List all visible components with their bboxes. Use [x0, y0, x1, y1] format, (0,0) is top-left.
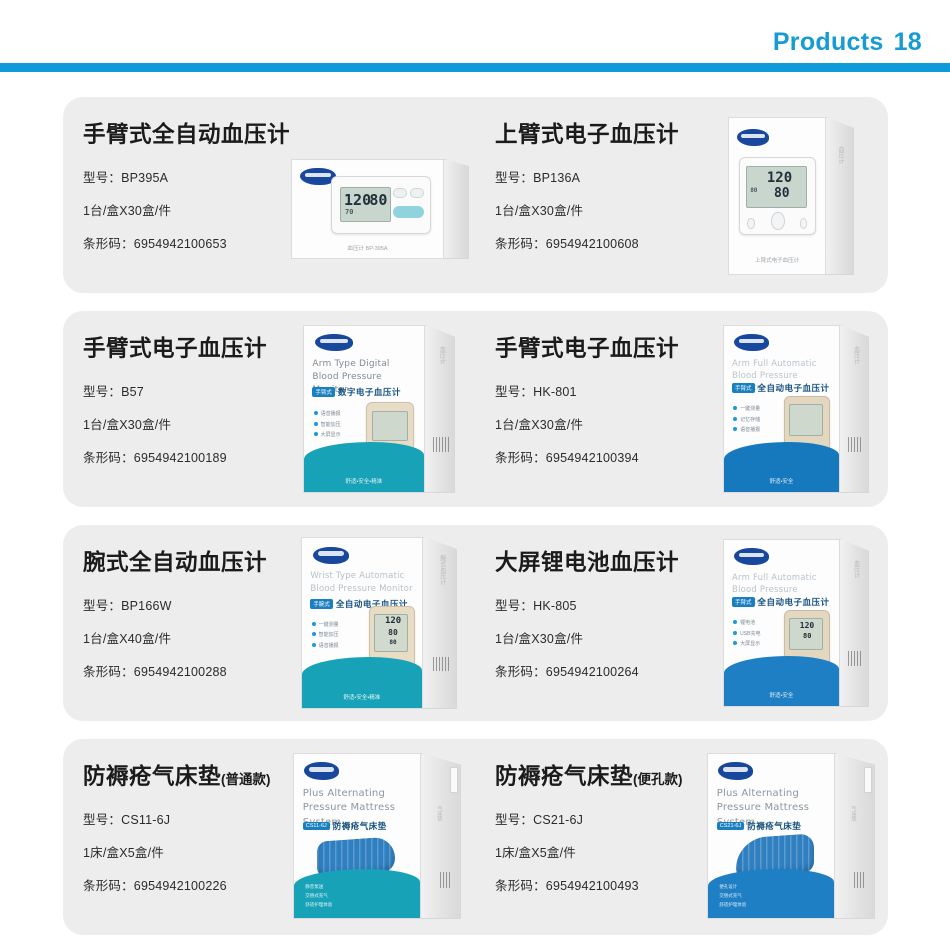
product-info: 防褥疮气床垫(普通款) 型号：CS11-6J 1床/盒X5盒/件 条形码：695… — [63, 739, 303, 894]
product-barcode: 条形码：6954942100264 — [495, 661, 715, 680]
product-packing: 1台/盒X30盒/件 — [83, 414, 303, 433]
product-info: 大屏锂电池血压计 型号：HK-805 1台/盒X30盒/件 条形码：695494… — [475, 525, 715, 680]
product-info: 上臂式电子血压计 型号：BP136A 1台/盒X30盒/件 条形码：695494… — [475, 97, 715, 252]
page-number: 18 — [894, 28, 922, 56]
catalog-page: Products18 手臂式全自动血压计 型号：BP395A 1台/盒X30盒/… — [0, 0, 950, 950]
product-model: 型号：HK-805 — [495, 595, 715, 614]
product-packing: 1台/盒X30盒/件 — [495, 414, 715, 433]
product-info: 腕式全自动血压计 型号：BP166W 1台/盒X40盒/件 条形码：695494… — [63, 525, 303, 680]
product-cell[interactable]: 腕式全自动血压计 型号：BP166W 1台/盒X40盒/件 条形码：695494… — [63, 525, 475, 721]
product-model: 型号：HK-801 — [495, 381, 715, 400]
product-packing: 1台/盒X40盒/件 — [83, 628, 303, 647]
product-title-main: 上臂式电子血压计 — [495, 122, 679, 147]
product-box-image: Wrist Type Automatic Blood Pressure Moni… — [301, 537, 457, 709]
page-title: Products18 — [773, 28, 922, 57]
product-model: 型号：BP136A — [495, 167, 715, 186]
product-box-image: Arm Type Digital Blood Pressure Monitor … — [303, 325, 455, 493]
product-title-main: 手臂式电子血压计 — [83, 336, 267, 361]
product-card-row: 防褥疮气床垫(普通款) 型号：CS11-6J 1床/盒X5盒/件 条形码：695… — [63, 739, 888, 935]
product-info: 手臂式电子血压计 型号：B57 1台/盒X30盒/件 条形码：695494210… — [63, 311, 303, 466]
product-card-row: 手臂式全自动血压计 型号：BP395A 1台/盒X30盒/件 条形码：69549… — [63, 97, 888, 293]
product-title: 大屏锂电池血压计 — [495, 551, 715, 576]
product-title-main: 手臂式电子血压计 — [495, 336, 679, 361]
product-packing: 1床/盒X5盒/件 — [83, 842, 303, 861]
product-title: 腕式全自动血压计 — [83, 551, 303, 576]
product-card-row: 手臂式电子血压计 型号：B57 1台/盒X30盒/件 条形码：695494210… — [63, 311, 888, 507]
product-title-main: 防褥疮气床垫 — [495, 764, 633, 789]
product-packing: 1台/盒X30盒/件 — [495, 628, 715, 647]
product-model: 型号：CS21-6J — [495, 809, 715, 828]
product-model: 型号：BP166W — [83, 595, 303, 614]
product-box-image: 120 80 70 血压计 BP-395A — [291, 159, 469, 259]
product-title-suffix: (普通款) — [221, 772, 271, 787]
product-cell[interactable]: 上臂式电子血压计 型号：BP136A 1台/盒X30盒/件 条形码：695494… — [475, 97, 887, 293]
product-barcode: 条形码：6954942100394 — [495, 447, 715, 466]
product-title-main: 手臂式全自动血压计 — [83, 122, 290, 147]
page-header: Products18 — [0, 0, 950, 90]
product-title: 手臂式电子血压计 — [495, 337, 715, 362]
product-barcode: 条形码：6954942100653 — [83, 233, 303, 252]
product-card-row: 腕式全自动血压计 型号：BP166W 1台/盒X40盒/件 条形码：695494… — [63, 525, 888, 721]
product-card-list: 手臂式全自动血压计 型号：BP395A 1台/盒X30盒/件 条形码：69549… — [63, 97, 888, 935]
product-box-image: Plus Alternating Pressure Mattress Syste… — [293, 753, 461, 919]
product-barcode: 条形码：6954942100288 — [83, 661, 303, 680]
product-barcode: 条形码：6954942100608 — [495, 233, 715, 252]
product-cell[interactable]: 防褥疮气床垫(便孔款) 型号：CS21-6J 1床/盒X5盒/件 条形码：695… — [475, 739, 887, 935]
product-title-main: 腕式全自动血压计 — [83, 550, 267, 575]
product-barcode: 条形码：6954942100226 — [83, 875, 303, 894]
product-title: 防褥疮气床垫(普通款) — [83, 765, 303, 790]
product-barcode: 条形码：6954942100189 — [83, 447, 303, 466]
product-cell[interactable]: 手臂式全自动血压计 型号：BP395A 1台/盒X30盒/件 条形码：69549… — [63, 97, 475, 293]
product-title-main: 大屏锂电池血压计 — [495, 550, 679, 575]
box-english-text: Wrist Type Automatic Blood Pressure Moni… — [310, 570, 413, 595]
product-title: 手臂式电子血压计 — [83, 337, 303, 362]
page-title-text: Products — [773, 28, 884, 56]
header-accent-bar — [0, 63, 950, 72]
product-barcode: 条形码：6954942100493 — [495, 875, 715, 894]
product-cell[interactable]: 大屏锂电池血压计 型号：HK-805 1台/盒X30盒/件 条形码：695494… — [475, 525, 887, 721]
product-model: 型号：B57 — [83, 381, 303, 400]
product-box-image: Plus Alternating Pressure Mattress Syste… — [707, 753, 875, 919]
product-title: 防褥疮气床垫(便孔款) — [495, 765, 715, 790]
product-title: 手臂式全自动血压计 — [83, 123, 303, 148]
product-box-image: Arm Full Automatic Blood Pressure Monito… — [723, 325, 869, 493]
product-packing: 1台/盒X30盒/件 — [495, 200, 715, 219]
product-packing: 1床/盒X5盒/件 — [495, 842, 715, 861]
product-title-suffix: (便孔款) — [633, 772, 683, 787]
product-cell[interactable]: 手臂式电子血压计 型号：B57 1台/盒X30盒/件 条形码：695494210… — [63, 311, 475, 507]
product-cell[interactable]: 防褥疮气床垫(普通款) 型号：CS11-6J 1床/盒X5盒/件 条形码：695… — [63, 739, 475, 935]
product-info: 防褥疮气床垫(便孔款) 型号：CS21-6J 1床/盒X5盒/件 条形码：695… — [475, 739, 715, 894]
product-packing: 1台/盒X30盒/件 — [83, 200, 303, 219]
product-title: 上臂式电子血压计 — [495, 123, 715, 148]
product-box-image: Arm Full Automatic Blood Pressure Monito… — [723, 539, 869, 707]
product-cell[interactable]: 手臂式电子血压计 型号：HK-801 1台/盒X30盒/件 条形码：695494… — [475, 311, 887, 507]
product-title-main: 防褥疮气床垫 — [83, 764, 221, 789]
product-info: 手臂式全自动血压计 型号：BP395A 1台/盒X30盒/件 条形码：69549… — [63, 97, 303, 252]
product-model: 型号：CS11-6J — [83, 809, 303, 828]
product-info: 手臂式电子血压计 型号：HK-801 1台/盒X30盒/件 条形码：695494… — [475, 311, 715, 466]
product-model: 型号：BP395A — [83, 167, 303, 186]
product-box-image: 120 80 80 上臂式电子血压计 血压计 — [728, 117, 854, 275]
